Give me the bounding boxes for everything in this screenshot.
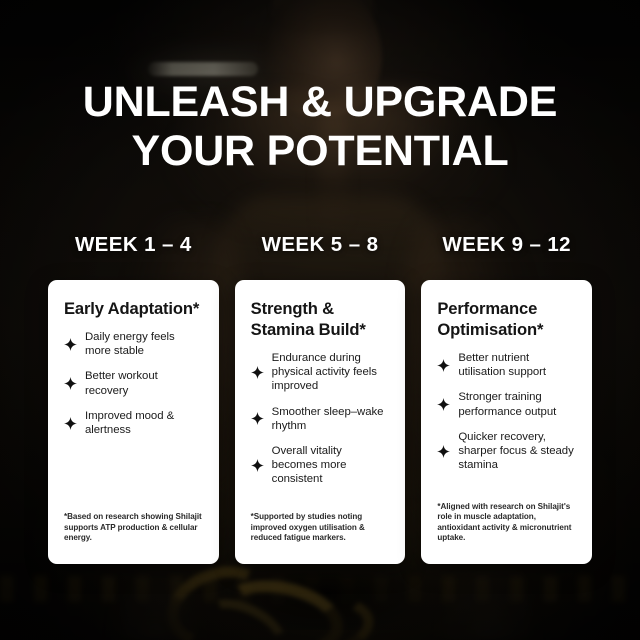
week-label-row: WEEK 1 – 4 WEEK 5 – 8 WEEK 9 – 12 [40,233,600,257]
bullet-text: Improved mood & alertness [85,409,203,437]
card-footnote-2: *Supported by studies noting improved ox… [251,512,390,564]
card-bullet-list-1: Daily energy feels more stable Better wo… [64,330,203,437]
sparkle-icon [64,417,77,430]
list-item: Smoother sleep–wake rhythm [251,405,390,433]
benefit-card-2: Strength & Stamina Build* Endurance duri… [235,280,406,564]
card-bullet-list-2: Endurance during physical activity feels… [251,351,390,487]
sparkle-icon [64,338,77,351]
week-column-1: WEEK 1 – 4 [40,233,227,257]
headline-line-1: UNLEASH & UPGRADE [83,78,557,126]
list-item: Better workout recovery [64,369,203,397]
card-title-3: Performance Optimisation* [437,298,576,340]
bullet-text: Better workout recovery [85,369,203,397]
week-label-1: WEEK 1 – 4 [75,233,192,257]
list-item: Daily energy feels more stable [64,330,203,358]
card-title-1: Early Adaptation* [64,298,203,319]
benefit-card-3: Performance Optimisation* Better nutrien… [421,280,592,564]
list-item: Overall vitality becomes more consistent [251,444,390,487]
bullet-text: Better nutrient utilisation support [458,351,576,379]
bullet-text: Overall vitality becomes more consistent [272,444,390,487]
bullet-text: Quicker recovery, sharper focus & steady… [458,430,576,473]
list-item: Stronger training performance output [437,390,576,418]
card-footnote-1: *Based on research showing Shilajit supp… [64,512,203,564]
list-item: Improved mood & alertness [64,409,203,437]
sparkle-icon [437,398,450,411]
benefit-card-row: Early Adaptation* Daily energy feels mor… [48,280,592,564]
bullet-text: Daily energy feels more stable [85,330,203,358]
bullet-text: Endurance during physical activity feels… [272,351,390,394]
list-item: Endurance during physical activity feels… [251,351,390,394]
sparkle-icon [251,366,264,379]
headline-line-2: YOUR POTENTIAL [0,127,640,176]
list-item: Quicker recovery, sharper focus & steady… [437,430,576,473]
bullet-text: Stronger training performance output [458,390,576,418]
week-label-2: WEEK 5 – 8 [262,233,379,257]
page-title: UNLEASH & UPGRADE YOUR POTENTIAL [0,78,640,176]
bullet-text: Smoother sleep–wake rhythm [272,405,390,433]
week-label-3: WEEK 9 – 12 [442,233,571,257]
card-footnote-3: *Aligned with research on Shilajit's rol… [437,502,576,564]
sparkle-icon [251,459,264,472]
card-bullet-list-3: Better nutrient utilisation support Stro… [437,351,576,472]
week-column-2: WEEK 5 – 8 [227,233,414,257]
promo-poster: UNLEASH & UPGRADE YOUR POTENTIAL WEEK 1 … [0,0,640,640]
sparkle-icon [251,412,264,425]
sparkle-icon [437,359,450,372]
week-column-3: WEEK 9 – 12 [413,233,600,257]
sparkle-icon [64,377,77,390]
list-item: Better nutrient utilisation support [437,351,576,379]
card-title-2: Strength & Stamina Build* [251,298,390,340]
benefit-card-1: Early Adaptation* Daily energy feels mor… [48,280,219,564]
sparkle-icon [437,445,450,458]
